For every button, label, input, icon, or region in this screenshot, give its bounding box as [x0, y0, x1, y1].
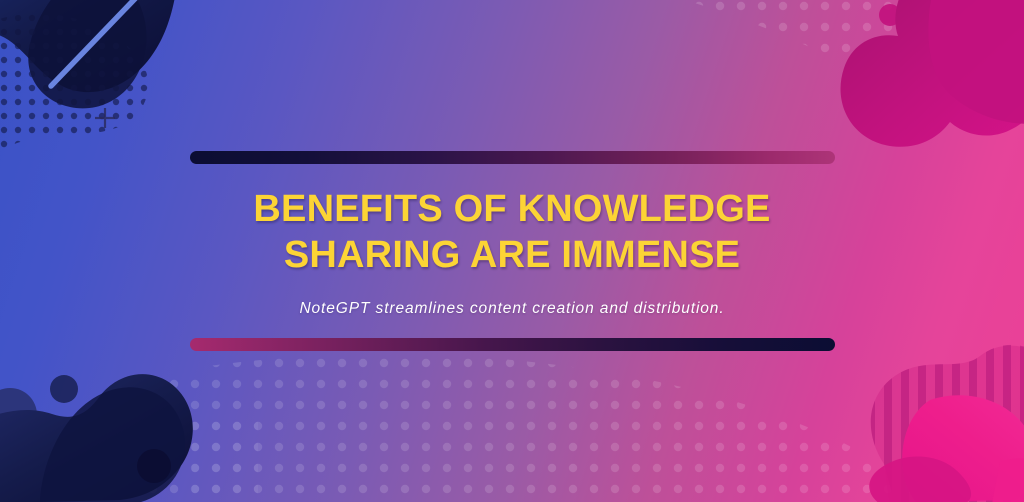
page-subtitle: NoteGPT streamlines content creation and… — [132, 300, 892, 318]
banner-content: Benefits of knowledge sharing are immens… — [0, 0, 1024, 502]
divider-top — [190, 151, 835, 164]
divider-bottom — [190, 338, 835, 351]
banner-canvas: Benefits of knowledge sharing are immens… — [0, 0, 1024, 502]
page-title: Benefits of knowledge sharing are immens… — [172, 186, 852, 279]
